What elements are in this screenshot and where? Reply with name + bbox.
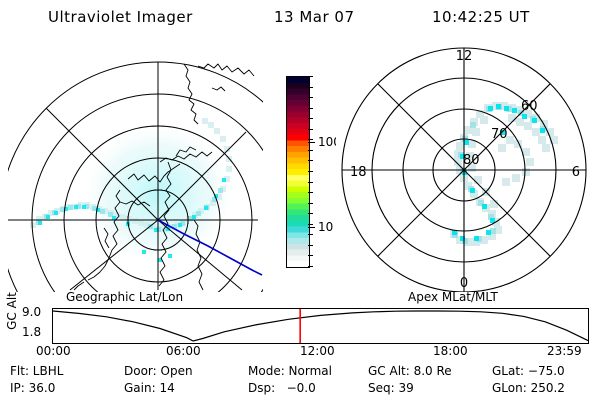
status-glon: GLon: 250.2 bbox=[492, 381, 565, 395]
mlat-label-80: 80 bbox=[463, 153, 480, 168]
status-gain: Gain: 14 bbox=[124, 381, 175, 395]
orbit-plot-box[interactable] bbox=[52, 308, 589, 344]
gc-altitude-panel: Geographic Lat/Lon Apex MLat/MLT GC Alt … bbox=[0, 292, 600, 354]
mlt-grid-lines bbox=[342, 48, 586, 292]
status-glat: GLat: −75.0 bbox=[492, 364, 565, 378]
colorbar-minor-tick bbox=[308, 150, 313, 151]
gc-alt-tick-high: 9.0 bbox=[22, 305, 41, 319]
mlt-label-6: 6 bbox=[572, 165, 580, 180]
colorbar-minor-tick bbox=[308, 203, 313, 204]
colorbar-gradient-box bbox=[286, 76, 310, 268]
status-gc-alt: GC Alt: 8.0 Re bbox=[368, 364, 452, 378]
right-panel-title: Apex MLat/MLT bbox=[408, 290, 498, 304]
colorbar-minor-tick bbox=[308, 234, 313, 235]
colorbar-minor-tick bbox=[308, 182, 313, 183]
status-footer: Flt: LBHL Door: Open Mode: Normal GC Alt… bbox=[0, 364, 600, 398]
colorbar-major-tick bbox=[308, 142, 315, 143]
mlt-label-0: 0 bbox=[460, 276, 468, 291]
instrument-title: Ultraviolet Imager bbox=[48, 8, 193, 26]
mlt-label-12: 12 bbox=[456, 49, 473, 64]
status-door: Door: Open bbox=[124, 364, 193, 378]
observation-time: 10:42:25 UT bbox=[432, 8, 530, 26]
header-bar: Ultraviolet Imager 13 Mar 07 10:42:25 UT bbox=[0, 6, 600, 30]
colorbar-minor-tick bbox=[308, 76, 313, 77]
mlat-label-60: 60 bbox=[521, 99, 538, 114]
colorbar-minor-tick bbox=[308, 139, 313, 140]
colorbar-minor-tick bbox=[308, 213, 313, 214]
orbit-curve-svg bbox=[53, 309, 588, 343]
colorbar-minor-tick bbox=[308, 108, 313, 109]
colorbar-minor-tick bbox=[308, 255, 313, 256]
colorbar-minor-tick bbox=[308, 192, 313, 193]
colorbar-tick-label-10: 10 bbox=[318, 222, 333, 232]
colorbar-minor-tick bbox=[308, 129, 313, 130]
status-mode: Mode: Normal bbox=[248, 364, 332, 378]
status-dsp: Dsp: −0.0 bbox=[248, 381, 316, 395]
magnetic-plot-svg: 12 18 6 0 60 70 80 bbox=[336, 44, 592, 292]
time-tick-1200: 12:00 bbox=[300, 344, 335, 358]
gc-alt-tick-low: 1.8 bbox=[22, 325, 41, 339]
colorbar-minor-tick bbox=[308, 171, 313, 172]
time-axis-labels: 00:0006:0012:0018:0023:59 bbox=[0, 344, 600, 360]
gc-alt-curve bbox=[53, 311, 588, 341]
time-tick-1800: 18:00 bbox=[433, 344, 468, 358]
colorbar-minor-tick bbox=[308, 97, 313, 98]
time-tick-2359: 23:59 bbox=[547, 344, 582, 358]
colorbar-minor-tick bbox=[308, 87, 313, 88]
colorbar-minor-tick bbox=[308, 160, 313, 161]
time-tick-0600: 06:00 bbox=[166, 344, 201, 358]
app-window: Ultraviolet Imager 13 Mar 07 10:42:25 UT bbox=[0, 0, 600, 400]
colorbar-minor-tick bbox=[308, 224, 313, 225]
observation-date: 13 Mar 07 bbox=[274, 8, 355, 26]
gc-alt-axis-label: GC Alt bbox=[5, 285, 19, 337]
status-ip: IP: 36.0 bbox=[10, 381, 55, 395]
mlt-label-18: 18 bbox=[350, 165, 367, 180]
magnetic-polar-plot[interactable]: 12 18 6 0 60 70 80 bbox=[336, 44, 592, 292]
colorbar-minor-tick bbox=[308, 118, 313, 119]
colorbar-gradient bbox=[287, 77, 309, 267]
colorbar-minor-tick bbox=[308, 245, 313, 246]
colorbar-minor-tick bbox=[308, 266, 313, 267]
status-seq: Seq: 39 bbox=[368, 381, 414, 395]
time-tick-0000: 00:00 bbox=[36, 344, 71, 358]
colorbar-major-tick bbox=[308, 227, 315, 228]
geographic-plot-svg bbox=[8, 44, 263, 292]
geographic-polar-plot[interactable] bbox=[8, 44, 263, 292]
status-filter: Flt: LBHL bbox=[10, 364, 63, 378]
mlat-label-70: 70 bbox=[491, 127, 508, 142]
left-panel-title: Geographic Lat/Lon bbox=[66, 290, 183, 304]
